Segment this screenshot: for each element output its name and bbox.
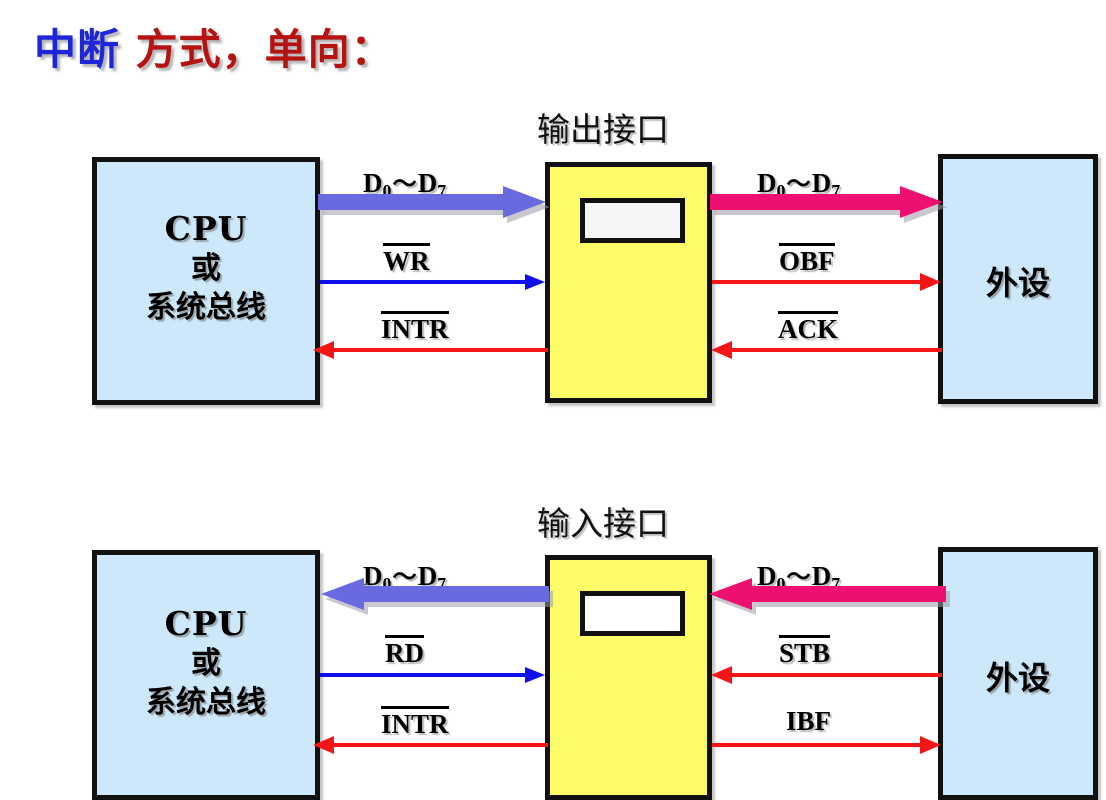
output-peripheral-label: 外设	[943, 263, 1093, 304]
output-latch-rectangle	[580, 198, 685, 243]
output-intr-arrow	[310, 338, 548, 362]
output-wr-arrow	[320, 270, 548, 294]
input-interface-title: 输入接口	[537, 497, 669, 545]
input-cpu-label: CPU 或 系统总线	[97, 603, 315, 722]
input-ibf-arrow	[712, 733, 944, 757]
output-peripheral-data-block-arrow	[710, 186, 950, 238]
input-cpu-label-line1: CPU	[97, 603, 315, 645]
output-ack-arrow	[708, 338, 942, 362]
input-peripheral-box: 外设	[938, 547, 1098, 800]
input-cpu-box: CPU 或 系统总线	[92, 550, 320, 800]
input-data-bus-block-arrow-left	[318, 578, 553, 630]
output-peripheral-box: 外设	[938, 154, 1098, 404]
page-title: 中断 方式，单向：	[34, 16, 394, 77]
input-cpu-label-line3: 系统总线	[97, 684, 315, 722]
output-cpu-label: CPU 或 系统总线	[97, 208, 315, 327]
title-part-blue: 中断	[34, 25, 120, 74]
input-ibf-text: IBF	[786, 706, 831, 736]
output-cpu-label-line2: 或	[97, 250, 315, 288]
input-stb-arrow	[708, 663, 942, 687]
input-peripheral-label: 外设	[943, 658, 1093, 699]
output-cpu-box: CPU 或 系统总线	[92, 157, 320, 405]
output-obf-arrow	[712, 270, 944, 294]
input-peripheral-data-block-arrow	[706, 578, 950, 630]
input-cpu-label-line2: 或	[97, 645, 315, 683]
input-intr-arrow	[310, 733, 548, 757]
input-rd-arrow	[320, 663, 548, 687]
output-data-bus-block-arrow-left	[318, 186, 553, 238]
slide-canvas: 中断 方式，单向： 输出接口 CPU 或 系统总线 外设 D0～D7 WR	[0, 0, 1106, 800]
input-interface-box	[545, 555, 712, 800]
title-part-red: 方式，单向：	[120, 25, 394, 74]
output-cpu-label-line1: CPU	[97, 208, 315, 250]
output-interface-title: 输出接口	[537, 103, 669, 151]
output-cpu-label-line3: 系统总线	[97, 289, 315, 327]
output-interface-box	[545, 162, 712, 403]
input-buffer-rectangle	[580, 591, 685, 636]
